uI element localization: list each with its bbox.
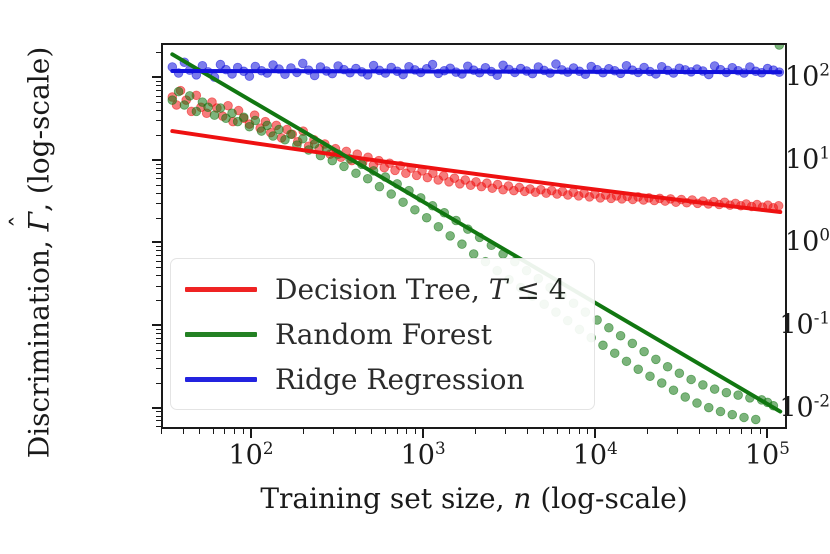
data-point — [716, 407, 725, 416]
data-point — [287, 130, 296, 139]
data-point — [185, 92, 194, 101]
legend[interactable]: Decision Tree, T ≤ 4Random ForestRidge R… — [170, 258, 595, 410]
data-point — [210, 111, 219, 120]
data-point — [239, 113, 248, 122]
x-tick-minor — [569, 429, 570, 434]
data-point — [458, 240, 467, 249]
x-tick-minor — [355, 429, 356, 434]
x-tick-minor — [579, 429, 580, 434]
data-point — [699, 381, 708, 390]
data-point — [204, 103, 213, 112]
data-point — [634, 365, 643, 374]
hat-accent: ˆ — [10, 212, 36, 231]
fit-line-0 — [172, 131, 780, 212]
x-tick-minor — [385, 429, 386, 434]
legend-item-2[interactable]: Ridge Regression — [171, 357, 594, 402]
x-tick-minor — [224, 429, 225, 434]
y-axis-label-post: , (log-scale) — [23, 47, 56, 212]
x-tick-minor — [161, 429, 162, 434]
data-point — [174, 87, 183, 96]
data-point — [640, 347, 649, 356]
data-point — [599, 341, 608, 350]
data-point — [363, 174, 372, 183]
x-tick-major — [250, 429, 252, 438]
data-point — [251, 116, 260, 125]
x-tick-minor — [415, 429, 416, 434]
x-tick-minor — [699, 429, 700, 434]
x-tick-minor — [751, 429, 752, 434]
data-point — [411, 205, 420, 214]
x-tick-label: 104 — [573, 442, 618, 469]
data-point — [693, 399, 702, 408]
x-tick-minor — [716, 429, 717, 434]
x-tick-major — [766, 429, 768, 438]
x-tick-minor — [527, 429, 528, 434]
data-point — [751, 415, 760, 424]
data-point — [375, 182, 384, 191]
x-tick-minor — [183, 429, 184, 434]
x-tick-minor — [475, 429, 476, 434]
x-tick-minor — [729, 429, 730, 434]
x-tick-major — [594, 429, 596, 438]
x-tick-minor — [741, 429, 742, 434]
x-tick-minor — [505, 429, 506, 434]
data-point — [734, 391, 743, 400]
data-point — [298, 134, 307, 143]
legend-label-1: Random Forest — [275, 321, 492, 349]
legend-label-2: Ridge Regression — [275, 366, 524, 394]
data-point — [216, 104, 225, 113]
data-point — [774, 201, 783, 210]
x-tick-minor — [303, 429, 304, 434]
x-tick-minor — [677, 429, 678, 434]
x-tick-minor — [397, 429, 398, 434]
legend-swatch-2 — [185, 377, 257, 382]
x-tick-label: 102 — [228, 442, 273, 469]
fit-line-2 — [172, 71, 780, 72]
data-point — [340, 162, 349, 171]
data-point — [245, 72, 254, 81]
data-point — [681, 393, 690, 402]
y-axis-label: Discrimination, ˆΓ, (log-scale) — [23, 0, 56, 513]
legend-swatch-1 — [185, 332, 257, 337]
legend-item-1[interactable]: Random Forest — [171, 312, 594, 357]
x-tick-minor — [557, 429, 558, 434]
x-tick-minor — [234, 429, 235, 434]
x-tick-minor — [760, 429, 761, 434]
x-tick-minor — [199, 429, 200, 434]
data-point — [275, 125, 284, 134]
data-point — [710, 385, 719, 394]
data-point — [722, 388, 731, 397]
legend-swatch-0 — [185, 287, 257, 292]
y-tick-major — [152, 324, 161, 326]
data-point — [628, 339, 637, 348]
data-point — [646, 372, 655, 381]
data-point — [399, 198, 408, 207]
figure-scatter-discrimination-vs-training-size: 10210110010-110-2102103104105 Discrimina… — [0, 0, 830, 554]
data-point — [604, 323, 613, 332]
data-point — [657, 379, 666, 388]
x-tick-major — [422, 429, 424, 438]
x-tick-minor — [213, 429, 214, 434]
data-point — [687, 375, 696, 384]
x-tick-minor — [406, 429, 407, 434]
data-point — [610, 349, 619, 358]
x-tick-label: 105 — [745, 442, 790, 469]
data-point — [775, 45, 784, 49]
data-point — [387, 190, 396, 199]
legend-var-0: T — [489, 273, 508, 306]
y-tick-major — [152, 407, 161, 409]
data-point — [651, 355, 660, 364]
x-axis-label-post: (log-scale) — [531, 482, 687, 515]
legend-label-0: Decision Tree, T ≤ 4 — [275, 276, 567, 304]
x-tick-minor — [371, 429, 372, 434]
x-axis-label-pre: Training set size, — [260, 482, 513, 515]
n-symbol: n — [513, 482, 531, 515]
data-point — [428, 60, 437, 69]
legend-item-0[interactable]: Decision Tree, T ≤ 4 — [171, 267, 594, 312]
data-point — [352, 169, 361, 178]
data-point — [434, 222, 443, 231]
data-point — [446, 232, 455, 241]
y-tick-major — [152, 76, 161, 78]
x-tick-minor — [587, 429, 588, 434]
x-tick-minor — [647, 429, 648, 434]
x-tick-minor — [243, 429, 244, 434]
data-point — [616, 331, 625, 340]
y-axis-label-pre: Discrimination, — [23, 231, 56, 458]
y-tick-major — [152, 241, 161, 243]
x-tick-minor — [543, 429, 544, 434]
gamma-hat-symbol: ˆΓ — [23, 212, 56, 231]
x-tick-minor — [333, 429, 334, 434]
data-point — [663, 362, 672, 371]
data-point — [180, 101, 189, 110]
data-point — [168, 96, 177, 105]
data-point — [263, 121, 272, 130]
data-point — [192, 107, 201, 116]
data-point — [704, 403, 713, 412]
x-tick-label: 103 — [401, 442, 446, 469]
data-point — [422, 213, 431, 222]
data-point — [669, 386, 678, 395]
data-point — [228, 109, 237, 118]
data-point — [728, 410, 737, 419]
data-point — [740, 413, 749, 422]
x-axis-label: Training set size, n (log-scale) — [161, 482, 787, 515]
y-tick-major — [152, 159, 161, 161]
data-point — [675, 369, 684, 378]
data-point — [622, 357, 631, 366]
